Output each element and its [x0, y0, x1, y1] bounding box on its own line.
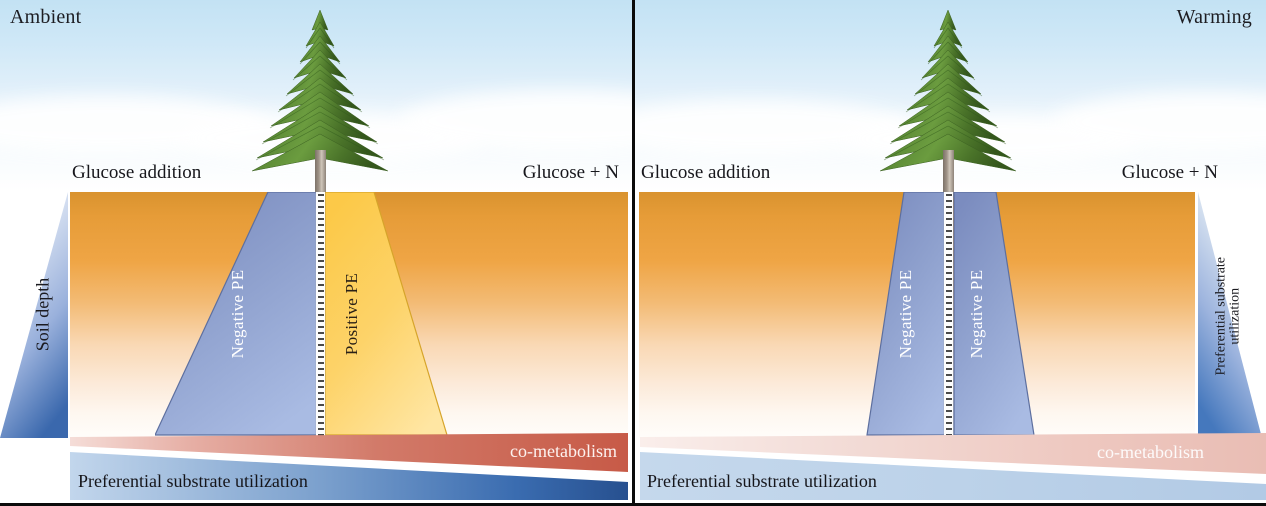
- wedge-label-negative-pe: Negative PE: [228, 259, 248, 369]
- soil-depth-label: Soil depth: [33, 260, 54, 370]
- tree-trunk-icon: [315, 150, 326, 198]
- soil-label-glucose-addition-ambient: Glucose addition: [72, 162, 201, 184]
- soil-label-glucose-n-warming: Glucose + N: [1122, 162, 1218, 184]
- bottom-gradient-group-warming: co-metabolism Preferential substrate uti…: [633, 430, 1266, 506]
- panel-ambient: Ambient: [0, 0, 633, 506]
- soil-depth-triangle: Soil depth: [0, 192, 70, 438]
- pref-label-line-1: Preferential substrate: [1215, 236, 1229, 396]
- wedge-label-negative-pe-left: Negative PE: [896, 259, 916, 369]
- soil-label-glucose-addition-warming: Glucose addition: [641, 162, 770, 184]
- bottom-label-preferential-ambient: Preferential substrate utilization: [78, 471, 308, 492]
- wedge-negative-pe-warming-right: Negative PE: [952, 192, 1072, 438]
- preferential-substrate-triangle-label: Preferential substrate utilization: [1215, 236, 1244, 396]
- bottom-label-co-metabolism-ambient: co-metabolism: [510, 441, 617, 462]
- wedge-negative-pe-warming-left: Negative PE: [828, 192, 948, 438]
- panel-divider: [632, 0, 635, 506]
- preferential-substrate-triangle: Preferential substrate utilization: [1196, 192, 1266, 438]
- bottom-label-co-metabolism-warming: co-metabolism: [1097, 442, 1204, 463]
- wedge-label-positive-pe: Positive PE: [342, 259, 362, 369]
- wedge-negative-pe-ambient: Negative PE: [155, 192, 321, 438]
- panel-title-warming: Warming: [1177, 6, 1252, 29]
- pref-label-line-2: utilization: [1229, 236, 1243, 396]
- soil-label-glucose-n-ambient: Glucose + N: [523, 162, 619, 184]
- panel-title-ambient: Ambient: [10, 6, 81, 29]
- tree-trunk-icon: [943, 150, 954, 198]
- dotted-center-line-warming: [944, 192, 953, 438]
- figure-canvas: Ambient: [0, 0, 1266, 506]
- wedge-positive-pe-ambient: Positive PE: [325, 192, 450, 438]
- bottom-gradient-group-ambient: co-metabolism Preferential substrate uti…: [0, 430, 633, 506]
- bottom-label-preferential-warming: Preferential substrate utilization: [647, 471, 877, 492]
- dotted-center-line-ambient: [316, 192, 325, 438]
- wedge-label-negative-pe-right: Negative PE: [967, 259, 987, 369]
- panel-warming: Warming: [633, 0, 1266, 506]
